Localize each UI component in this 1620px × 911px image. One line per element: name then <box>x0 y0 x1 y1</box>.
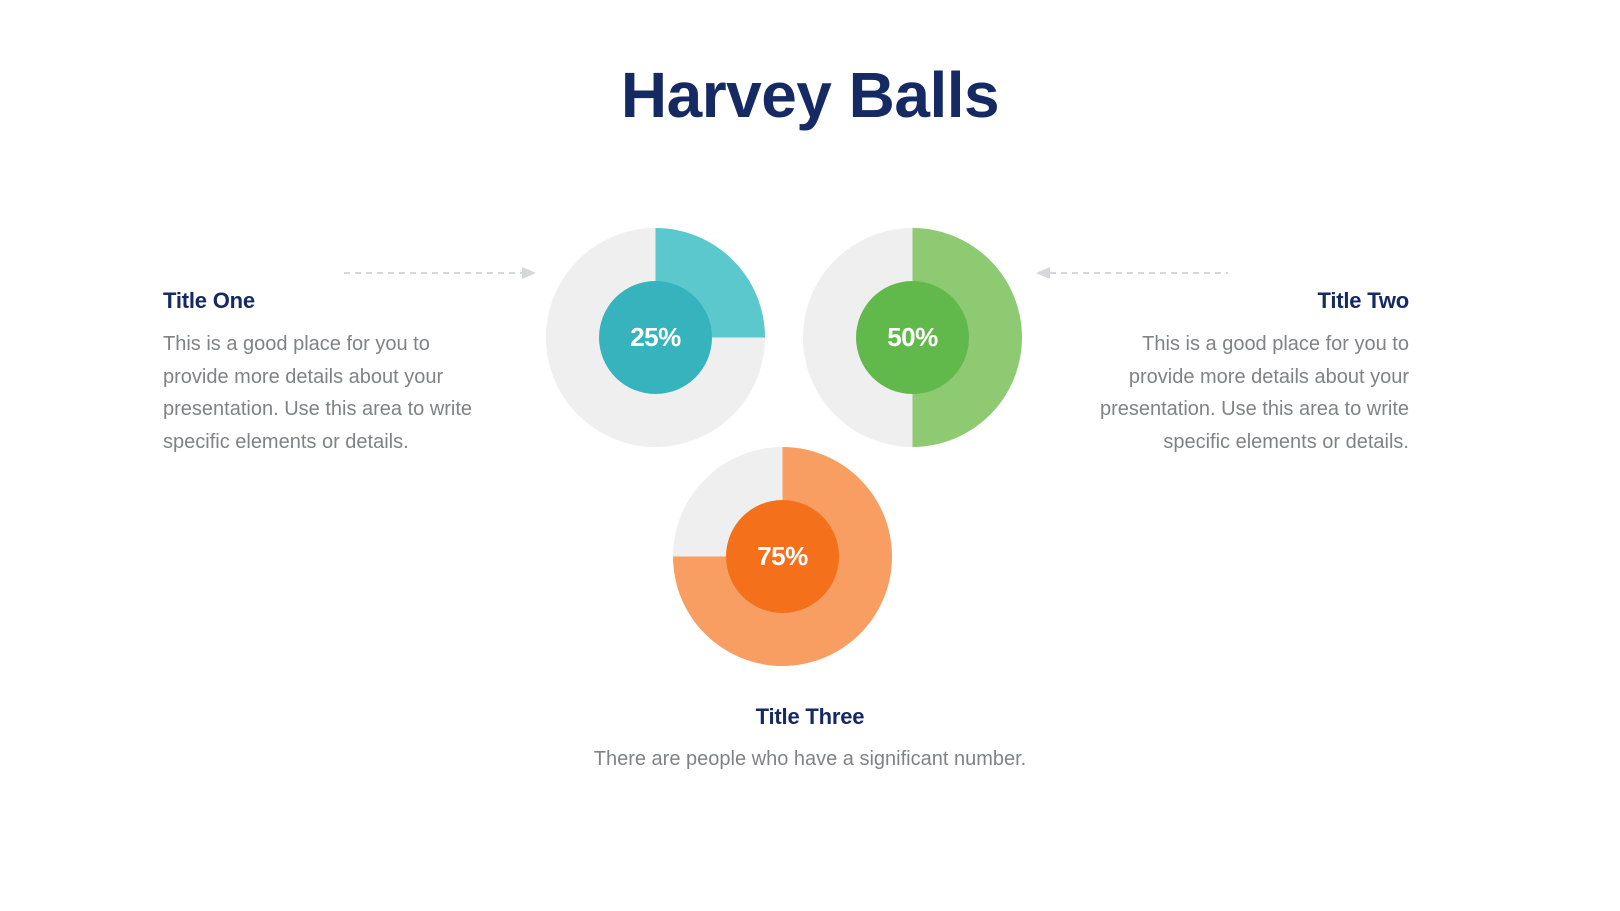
block-one-body: This is a good place for you to provide … <box>163 328 473 458</box>
harvey-ball-two-value: 50% <box>887 322 938 353</box>
text-block-three: Title Three There are people who have a … <box>550 704 1070 776</box>
harvey-ball-two[interactable]: 50% <box>803 228 1022 447</box>
block-two-body: This is a good place for you to provide … <box>1097 328 1409 458</box>
harvey-ball-three[interactable]: 75% <box>673 447 892 666</box>
arrowhead-right-icon <box>522 267 536 279</box>
block-two-title: Title Two <box>1097 288 1409 314</box>
text-block-two: Title Two This is a good place for you t… <box>1097 288 1409 458</box>
harvey-ball-one-hub: 25% <box>599 281 712 394</box>
harvey-ball-two-hub: 50% <box>856 281 969 394</box>
page-title: Harvey Balls <box>0 62 1620 129</box>
connector-arrow-right <box>1036 265 1228 281</box>
block-three-title: Title Three <box>550 704 1070 730</box>
block-one-title: Title One <box>163 288 473 314</box>
harvey-ball-one[interactable]: 25% <box>546 228 765 447</box>
block-three-body: There are people who have a significant … <box>550 743 1070 776</box>
harvey-ball-one-value: 25% <box>630 322 681 353</box>
harvey-ball-three-value: 75% <box>757 541 808 572</box>
arrowhead-left-icon <box>1036 267 1050 279</box>
slide-canvas: Harvey Balls 25% 50% 75% Tit <box>0 0 1620 911</box>
harvey-ball-three-hub: 75% <box>726 500 839 613</box>
text-block-one: Title One This is a good place for you t… <box>163 288 473 458</box>
connector-arrow-left <box>344 265 536 281</box>
